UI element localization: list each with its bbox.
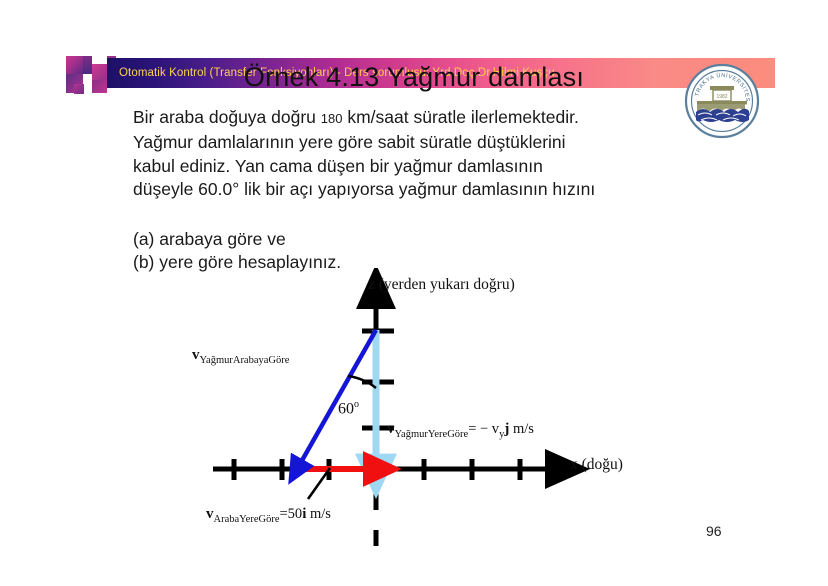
problem-line-1-part-a: Bir araba doğuya doğru xyxy=(133,107,321,127)
label-vector-car-ground: vArabaYereGöre=50i m/s xyxy=(206,506,331,525)
speed-value: 180 xyxy=(321,111,343,126)
vector-subscript-rain-ground: YağmurYereGöre xyxy=(395,429,469,440)
label-vector-rain-ground: vYağmurYereGöre= − vyj m/s xyxy=(387,421,534,440)
leader-line xyxy=(308,468,330,499)
vector-units-car-ground: m/s xyxy=(306,506,331,522)
question-item-a: (a) arabaya göre ve xyxy=(133,228,553,251)
vector-subscript-car-ground: ArabaYereGöre xyxy=(214,514,280,525)
degree-symbol: o xyxy=(354,399,359,410)
problem-line-3: kabul ediniz. Yan cama düşen bir yağmur … xyxy=(133,155,703,179)
z-axis-label: z (yerden yukarı doğru) xyxy=(368,276,515,294)
vector-arrow-rain-car xyxy=(300,330,376,464)
label-vector-rain-car: vYağmurArabayaGöre xyxy=(192,347,289,366)
vector-diagram: z (yerden yukarı doğru) x (doğu) 60o vYa… xyxy=(150,268,710,558)
vector-subscript-rain-car: YağmurArabayaGöre xyxy=(200,355,290,366)
vector-symbol-rain-ground: v xyxy=(387,421,395,437)
problem-line-1-part-b: km/saat süratle ilerlemektedir. xyxy=(342,107,578,127)
vector-equals-car-ground: =50 xyxy=(280,506,303,522)
problem-statement: Bir araba doğuya doğru 180 km/saat sürat… xyxy=(133,106,703,202)
angle-label: 60o xyxy=(338,399,359,418)
problem-line-4: düşeyle 60.0° lik bir açı yapıyorsa yağm… xyxy=(133,178,703,202)
problem-line-2: Yağmur damlalarının yere göre sabit süra… xyxy=(133,131,703,155)
x-axis-label: x (doğu) xyxy=(570,456,623,474)
angle-value: 60 xyxy=(338,400,354,417)
vector-units-rain-ground: m/s xyxy=(509,421,534,437)
problem-line-1: Bir araba doğuya doğru 180 km/saat sürat… xyxy=(133,106,703,131)
svg-text:1982: 1982 xyxy=(716,94,727,100)
x-axis xyxy=(213,459,550,480)
page-number: 96 xyxy=(706,523,722,539)
slide-canvas: Otomatik Kontrol (Transfer Fonksiyonları… xyxy=(0,0,828,586)
vector-equals-rain-ground: = − v xyxy=(468,421,499,437)
header-banner: Otomatik Kontrol (Transfer Fonksiyonları… xyxy=(0,26,828,66)
vector-symbol-rain-car: v xyxy=(192,347,200,363)
vector-symbol-car-ground: v xyxy=(206,506,214,522)
